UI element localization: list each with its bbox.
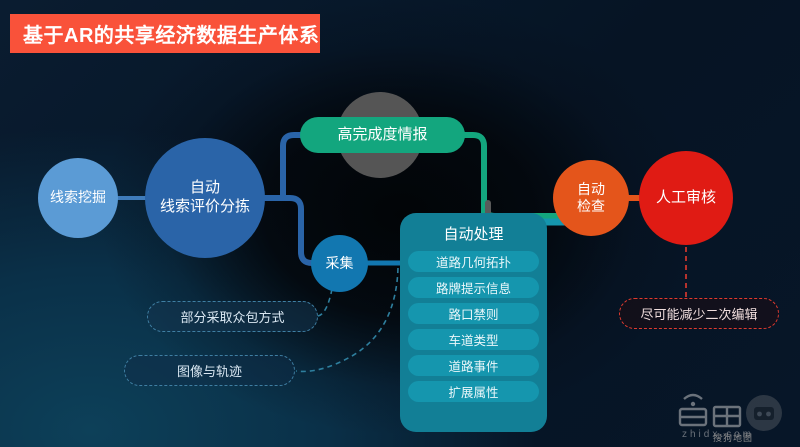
annotation-less-edit[interactable]: 尽可能减少二次编辑 bbox=[619, 298, 779, 329]
connector-intel-to-panel bbox=[458, 135, 484, 214]
node-high-intel-label: 高完成度情报 bbox=[337, 126, 427, 145]
auto-process-item[interactable]: 路口禁则 bbox=[408, 303, 539, 324]
annotation-image-track[interactable]: 图像与轨迹 bbox=[124, 355, 295, 386]
node-high-intel[interactable]: 高完成度情报 bbox=[300, 117, 465, 153]
node-auto-check-line1: 自动 bbox=[577, 181, 605, 199]
auto-process-item[interactable]: 车道类型 bbox=[408, 329, 539, 350]
node-auto-check[interactable]: 自动 检查 bbox=[553, 160, 629, 236]
node-manual-review[interactable]: 人工审核 bbox=[639, 151, 733, 245]
node-auto-sort-line1: 自动 bbox=[160, 179, 250, 198]
connector-intel-to-check bbox=[484, 160, 560, 216]
node-auto-sort-line2: 线索评价分拣 bbox=[160, 198, 250, 217]
annotation-crowdsource[interactable]: 部分采取众包方式 bbox=[147, 301, 318, 332]
annotation-less-edit-label: 尽可能减少二次编辑 bbox=[640, 304, 757, 323]
annotation-image-track-label: 图像与轨迹 bbox=[177, 361, 242, 380]
node-clue-mining-label: 线索挖掘 bbox=[50, 189, 106, 207]
node-collect-label: 采集 bbox=[326, 255, 354, 273]
node-manual-review-label: 人工审核 bbox=[656, 189, 716, 208]
annotation-crowdsource-label: 部分采取众包方式 bbox=[180, 307, 284, 326]
connector-auto-fork-up bbox=[262, 135, 306, 198]
auto-process-title: 自动处理 bbox=[443, 223, 503, 244]
auto-process-item[interactable]: 道路事件 bbox=[408, 355, 539, 376]
node-auto-check-line2: 检查 bbox=[577, 198, 605, 216]
slide-canvas: 基于AR的共享经济数据生产体系 线索挖掘 自动 线索评价分拣 高完成度情报 采集… bbox=[0, 0, 800, 447]
auto-process-item[interactable]: 道路几何拓扑 bbox=[408, 251, 539, 272]
auto-process-item[interactable]: 路牌提示信息 bbox=[408, 277, 539, 298]
connector-collect-to-crowdsource bbox=[318, 289, 332, 316]
slide-title-banner: 基于AR的共享经济数据生产体系 bbox=[10, 14, 320, 53]
node-auto-sort[interactable]: 自动 线索评价分拣 bbox=[145, 138, 265, 258]
watermark-source: 搜狗地图 bbox=[713, 431, 753, 444]
node-collect[interactable]: 采集 bbox=[311, 235, 368, 292]
node-clue-mining[interactable]: 线索挖掘 bbox=[38, 158, 118, 238]
auto-process-item[interactable]: 扩展属性 bbox=[408, 381, 539, 402]
auto-process-panel[interactable]: 自动处理 道路几何拓扑 路牌提示信息 路口禁则 车道类型 道路事件 扩展属性 bbox=[400, 213, 547, 432]
page-title: 基于AR的共享经济数据生产体系 bbox=[23, 19, 319, 48]
